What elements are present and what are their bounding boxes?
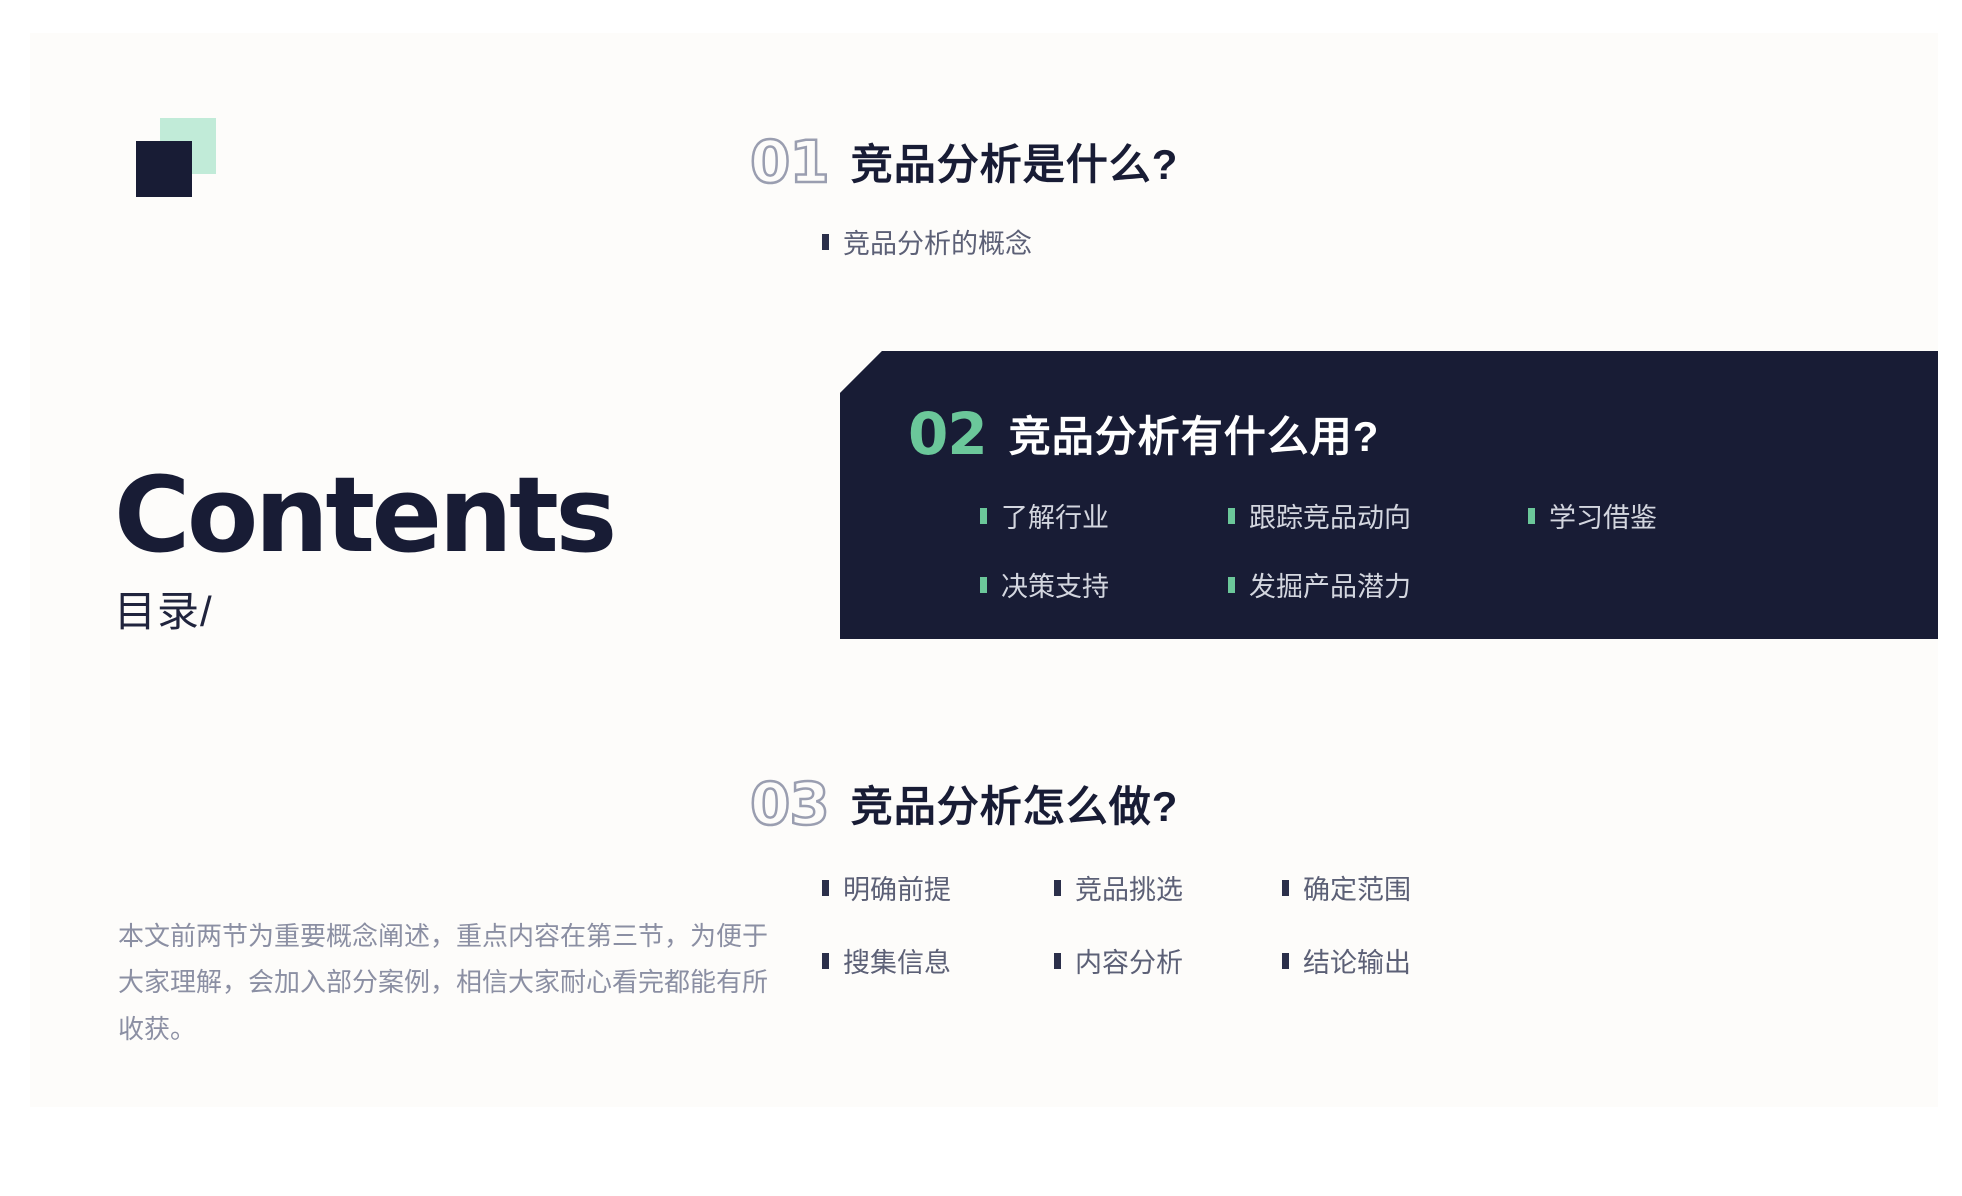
- bullet-square-icon: [1282, 880, 1289, 896]
- list-item-label: 竞品挑选: [1075, 868, 1183, 907]
- section-01[interactable]: 01 竞品分析是什么? 竞品分析的概念: [730, 131, 1938, 261]
- logo-dark-square: [136, 141, 192, 197]
- section-02-number: 02: [908, 405, 987, 463]
- bullet-square-icon: [1228, 508, 1235, 524]
- slide-canvas: Contents 目录/ 本文前两节为重要概念阐述，重点内容在第三节，为便于大家…: [30, 33, 1938, 1107]
- bullet-square-icon: [980, 577, 987, 593]
- section-02-bullets: 了解行业 跟踪竞品动向 学习借鉴: [980, 496, 1938, 604]
- list-item[interactable]: 学习借鉴: [1528, 496, 1657, 535]
- bullet-square-icon: [822, 234, 829, 250]
- bullet-square-icon: [822, 953, 829, 969]
- section-03-title: 竞品分析怎么做?: [851, 773, 1179, 834]
- list-item[interactable]: 确定范围: [1282, 868, 1411, 907]
- list-item[interactable]: 明确前提: [822, 868, 1054, 907]
- bullet-square-icon: [1228, 577, 1235, 593]
- section-03-bullets: 明确前提 竞品挑选 确定范围 搜集信息: [822, 868, 1938, 980]
- list-item-label: 决策支持: [1001, 565, 1109, 604]
- list-item-label: 竞品分析的概念: [843, 222, 1032, 261]
- list-item[interactable]: 竞品分析的概念: [822, 222, 1032, 261]
- bullet-square-icon: [980, 508, 987, 524]
- list-item-label: 了解行业: [1001, 496, 1109, 535]
- section-01-title: 竞品分析是什么?: [851, 131, 1179, 192]
- bullet-square-icon: [1282, 953, 1289, 969]
- section-02-header: 02 竞品分析有什么用?: [908, 403, 1938, 464]
- section-02-card[interactable]: 02 竞品分析有什么用? 了解行业 跟踪竞品动向: [840, 351, 1938, 639]
- page-title: Contents: [114, 463, 814, 567]
- section-02-content: 02 竞品分析有什么用? 了解行业 跟踪竞品动向: [908, 403, 1938, 604]
- list-item-label: 结论输出: [1303, 941, 1411, 980]
- intro-paragraph: 本文前两节为重要概念阐述，重点内容在第三节，为便于大家理解，会加入部分案例，相信…: [118, 913, 768, 1052]
- list-item[interactable]: 结论输出: [1282, 941, 1411, 980]
- list-item[interactable]: 发掘产品潜力: [1228, 565, 1528, 604]
- bullet-row: 了解行业 跟踪竞品动向 学习借鉴: [980, 496, 1938, 535]
- list-item-label: 内容分析: [1075, 941, 1183, 980]
- list-item-label: 明确前提: [843, 868, 951, 907]
- list-item-label: 发掘产品潜力: [1249, 565, 1411, 604]
- bullet-row: 决策支持 发掘产品潜力: [980, 565, 1938, 604]
- bullet-square-icon: [1528, 508, 1535, 524]
- list-item-label: 搜集信息: [843, 941, 951, 980]
- page-subtitle: 目录/: [114, 591, 814, 633]
- section-03[interactable]: 03 竞品分析怎么做? 明确前提 竞品挑选 确定范围: [730, 773, 1938, 980]
- sections-column: 01 竞品分析是什么? 竞品分析的概念 02 竞品分析有什么用?: [730, 33, 1938, 1107]
- bullet-square-icon: [1054, 953, 1061, 969]
- bullet-row: 竞品分析的概念: [822, 222, 1938, 261]
- list-item[interactable]: 搜集信息: [822, 941, 1054, 980]
- section-01-bullets: 竞品分析的概念: [822, 222, 1938, 261]
- bullet-row: 搜集信息 内容分析 结论输出: [822, 941, 1938, 980]
- list-item[interactable]: 内容分析: [1054, 941, 1282, 980]
- bullet-square-icon: [822, 880, 829, 896]
- card-folded-corner: [840, 351, 882, 393]
- list-item-label: 学习借鉴: [1549, 496, 1657, 535]
- list-item[interactable]: 了解行业: [980, 496, 1228, 535]
- brand-logo: [108, 113, 218, 213]
- section-03-number: 03: [750, 775, 829, 833]
- section-01-number: 01: [750, 133, 829, 191]
- section-01-header: 01 竞品分析是什么?: [750, 131, 1938, 192]
- section-02-title: 竞品分析有什么用?: [1009, 403, 1380, 464]
- section-03-header: 03 竞品分析怎么做?: [750, 773, 1938, 834]
- list-item[interactable]: 竞品挑选: [1054, 868, 1282, 907]
- contents-heading-block: Contents 目录/: [114, 463, 814, 633]
- list-item-label: 跟踪竞品动向: [1249, 496, 1411, 535]
- bullet-row: 明确前提 竞品挑选 确定范围: [822, 868, 1938, 907]
- list-item[interactable]: 决策支持: [980, 565, 1228, 604]
- list-item-label: 确定范围: [1303, 868, 1411, 907]
- bullet-square-icon: [1054, 880, 1061, 896]
- list-item[interactable]: 跟踪竞品动向: [1228, 496, 1528, 535]
